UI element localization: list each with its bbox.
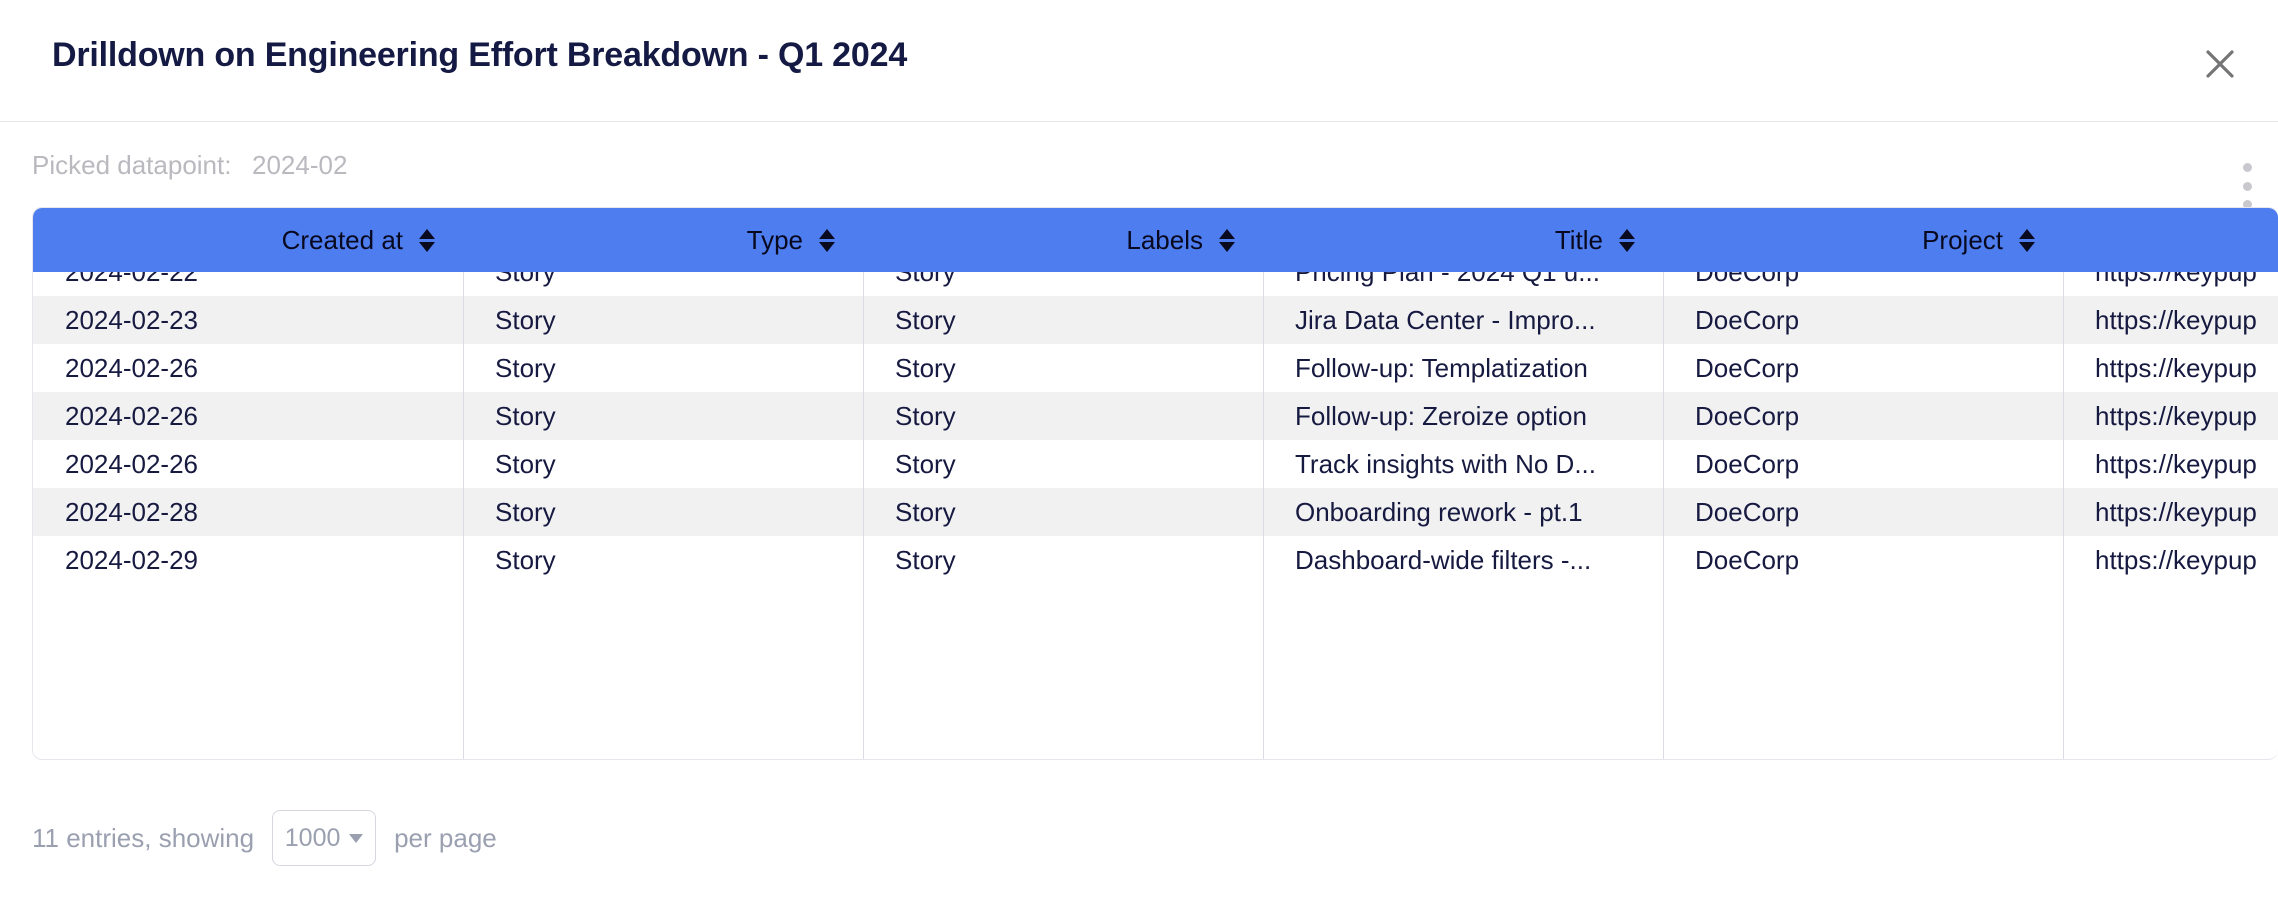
cell-url: https://keypup	[2063, 536, 2278, 584]
column-header-label: Title	[1555, 225, 1603, 256]
cell-created_at: 2024-02-26	[33, 392, 463, 440]
cell-type: Story	[463, 344, 863, 392]
column-header-label: Type	[747, 225, 803, 256]
table-header-row: Created atTypeLabelsTitleProjectUrl	[33, 208, 2278, 272]
cell-created_at: 2024-02-29	[33, 536, 463, 584]
drilldown-modal: Drilldown on Engineering Effort Breakdow…	[0, 0, 2278, 924]
sort-arrows-icon[interactable]	[1619, 229, 1635, 252]
cell-labels: Story	[863, 536, 1263, 584]
column-header-project[interactable]: Project	[1663, 208, 2063, 272]
table-row[interactable]: 2024-02-23StoryStoryJira Data Center - I…	[33, 296, 2278, 344]
column-divider	[2063, 272, 2064, 760]
cell-labels: Story	[863, 344, 1263, 392]
cell-url: https://keypup	[2063, 344, 2278, 392]
per-page-suffix-label: per page	[394, 823, 497, 854]
column-divider	[863, 272, 864, 760]
table-row[interactable]: 2024-02-26StoryStoryFollow-up: Zeroize o…	[33, 392, 2278, 440]
cell-url: https://keypup	[2063, 488, 2278, 536]
cell-url: https://keypup	[2063, 392, 2278, 440]
column-divider	[463, 272, 464, 760]
sort-arrows-icon[interactable]	[819, 229, 835, 252]
cell-title: Track insights with No D...	[1263, 440, 1663, 488]
cell-created_at: 2024-02-23	[33, 296, 463, 344]
modal-header: Drilldown on Engineering Effort Breakdow…	[0, 0, 2278, 122]
column-header-label: Project	[1922, 225, 2003, 256]
per-page-value: 1000	[285, 824, 341, 853]
cell-title: Follow-up: Zeroize option	[1263, 392, 1663, 440]
page-title: Drilldown on Engineering Effort Breakdow…	[52, 36, 907, 75]
cell-url: https://keypup	[2063, 440, 2278, 488]
table-row[interactable]: 2024-02-28StoryStoryOnboarding rework - …	[33, 488, 2278, 536]
cell-created_at: 2024-02-26	[33, 440, 463, 488]
cell-labels: Story	[863, 296, 1263, 344]
picked-datapoint-bar: Picked datapoint: 2024-02	[0, 123, 2278, 203]
per-page-select[interactable]: 1000	[272, 810, 376, 866]
picked-datapoint-value: 2024-02	[252, 150, 347, 181]
chevron-down-icon	[349, 834, 363, 843]
cell-created_at: 2024-02-28	[33, 488, 463, 536]
column-divider	[1663, 272, 1664, 760]
cell-labels: Story	[863, 488, 1263, 536]
cell-type: Story	[463, 392, 863, 440]
column-header-url[interactable]: Url	[2063, 208, 2278, 272]
column-header-label: Created at	[282, 225, 403, 256]
cell-title: Jira Data Center - Impro...	[1263, 296, 1663, 344]
table-footer: 11 entries, showing 1000 per page	[0, 783, 2278, 893]
column-header-label: Labels	[1126, 225, 1203, 256]
column-header-created_at[interactable]: Created at	[33, 208, 463, 272]
cell-project: DoeCorp	[1663, 296, 2063, 344]
picked-datapoint-label: Picked datapoint:	[32, 150, 231, 181]
sort-arrows-icon[interactable]	[1219, 229, 1235, 252]
cell-title: Onboarding rework - pt.1	[1263, 488, 1663, 536]
cell-title: Dashboard-wide filters -...	[1263, 536, 1663, 584]
cell-project: DoeCorp	[1663, 344, 2063, 392]
modal-body: Picked datapoint: 2024-02 2024-02-22Stor…	[0, 123, 2278, 924]
kebab-menu-icon[interactable]	[2234, 163, 2260, 209]
sort-arrows-icon[interactable]	[419, 229, 435, 252]
cell-type: Story	[463, 296, 863, 344]
column-divider	[1263, 272, 1264, 760]
cell-labels: Story	[863, 440, 1263, 488]
cell-project: DoeCorp	[1663, 392, 2063, 440]
cell-project: DoeCorp	[1663, 488, 2063, 536]
table-row[interactable]: 2024-02-26StoryStoryFollow-up: Templatiz…	[33, 344, 2278, 392]
cell-project: DoeCorp	[1663, 536, 2063, 584]
cell-project: DoeCorp	[1663, 440, 2063, 488]
cell-type: Story	[463, 488, 863, 536]
table-body: 2024-02-22StoryStoryPricing Plan - 2024 …	[33, 208, 2278, 760]
column-header-title[interactable]: Title	[1263, 208, 1663, 272]
cell-title: Follow-up: Templatization	[1263, 344, 1663, 392]
cell-created_at: 2024-02-26	[33, 344, 463, 392]
cell-type: Story	[463, 536, 863, 584]
drilldown-table: 2024-02-22StoryStoryPricing Plan - 2024 …	[32, 207, 2278, 760]
cell-labels: Story	[863, 392, 1263, 440]
cell-type: Story	[463, 440, 863, 488]
entries-count-label: 11 entries, showing	[32, 823, 254, 854]
table-row[interactable]: 2024-02-29StoryStoryDashboard-wide filte…	[33, 536, 2278, 584]
table-row[interactable]: 2024-02-26StoryStoryTrack insights with …	[33, 440, 2278, 488]
kebab-dot	[2243, 182, 2252, 191]
column-header-type[interactable]: Type	[463, 208, 863, 272]
close-icon[interactable]	[2194, 38, 2246, 90]
kebab-dot	[2243, 163, 2252, 172]
sort-arrows-icon[interactable]	[2019, 229, 2035, 252]
column-header-labels[interactable]: Labels	[863, 208, 1263, 272]
cell-url: https://keypup	[2063, 296, 2278, 344]
